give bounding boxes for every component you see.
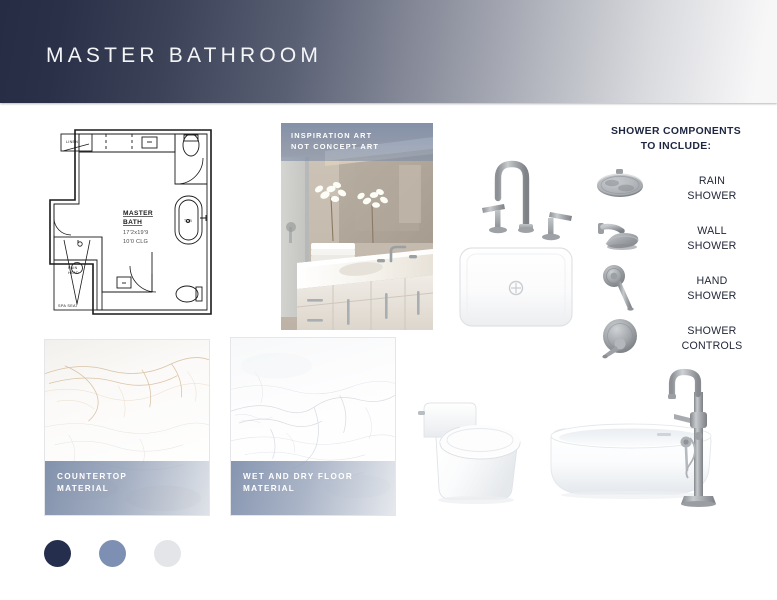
hand-shower-icon: [592, 264, 648, 314]
shower-component-controls-label: SHOWER CONTROLS: [656, 324, 768, 354]
shower-component-wall: WALL SHOWER: [578, 214, 774, 264]
shower-component-hand: HAND SHOWER: [578, 264, 774, 314]
rain-label-line1: RAIN: [656, 174, 768, 189]
page-header: MASTER BATHROOM: [0, 0, 777, 103]
rain-shower-icon: [592, 164, 648, 214]
floorplan-ceiling-height: 10'0 CLG: [123, 239, 148, 245]
tub-filler-image: [660, 366, 722, 508]
floor-caption: WET AND DRY FLOOR MATERIAL: [231, 461, 395, 515]
shower-heading-line2: TO INCLUDE:: [578, 139, 774, 154]
wall-label-line2: SHOWER: [656, 239, 768, 254]
page-title: MASTER BATHROOM: [46, 44, 322, 68]
shower-component-wall-label: WALL SHOWER: [656, 224, 768, 254]
shower-components-heading: SHOWER COMPONENTS TO INCLUDE:: [578, 124, 774, 154]
hand-label-line1: HAND: [656, 274, 768, 289]
shower-components-panel: SHOWER COMPONENTS TO INCLUDE:: [578, 124, 774, 356]
palette-swatch-light-grey: [154, 540, 181, 567]
floorplan-room-name-line2: BATH: [123, 219, 142, 226]
inspiration-caption: INSPIRATION ART NOT CONCEPT ART: [281, 123, 433, 161]
inspiration-caption-line2: NOT CONCEPT ART: [291, 142, 424, 153]
material-swatch-countertop: COUNTERTOP MATERIAL: [44, 339, 210, 516]
hand-label-line2: SHOWER: [656, 289, 768, 304]
floorplan-dimensions: 17'2x19'9: [123, 230, 148, 236]
color-palette: [44, 540, 204, 570]
floorplan-label-rain-head-2: HEAD: [68, 271, 79, 275]
countertop-caption-line2: MATERIAL: [57, 483, 198, 495]
inspiration-photo: INSPIRATION ART NOT CONCEPT ART: [281, 123, 433, 330]
floorplan-label-spa-seat: SPA SEAT: [58, 304, 79, 308]
material-swatch-floor: WET AND DRY FLOOR MATERIAL: [230, 337, 396, 516]
floorplan-label-linen: LINEN: [66, 140, 78, 144]
rain-label-line2: SHOWER: [656, 189, 768, 204]
wall-label-line1: WALL: [656, 224, 768, 239]
faucet-and-sink-group: [452, 142, 580, 332]
shower-component-rain-label: RAIN SHOWER: [656, 174, 768, 204]
controls-label-line1: SHOWER: [656, 324, 768, 339]
shower-heading-line1: SHOWER COMPONENTS: [578, 124, 774, 139]
floor-plan-drawing: LINEN TUB RAIN HEAD SPA SEAT MASTER BATH…: [44, 122, 239, 322]
floorplan-label-rain-head-1: RAIN: [68, 266, 78, 270]
palette-swatch-slate-blue: [99, 540, 126, 567]
floorplan-label-tub: TUB: [184, 219, 192, 223]
inspiration-caption-line1: INSPIRATION ART: [291, 131, 424, 142]
floorplan-room-name-line1: MASTER: [123, 210, 153, 217]
shower-controls-icon: [592, 314, 648, 364]
faucet-and-sink-image: [452, 142, 580, 332]
toilet-image: [414, 385, 534, 513]
countertop-caption: COUNTERTOP MATERIAL: [45, 461, 209, 515]
floor-caption-line2: MATERIAL: [243, 483, 384, 495]
floor-plan: LINEN TUB RAIN HEAD SPA SEAT MASTER BATH…: [44, 122, 239, 322]
palette-swatch-navy: [44, 540, 71, 567]
floor-caption-line1: WET AND DRY FLOOR: [243, 471, 384, 483]
shower-component-controls: SHOWER CONTROLS: [578, 314, 774, 364]
wall-shower-icon: [592, 214, 648, 264]
shower-component-rain: RAIN SHOWER: [578, 164, 774, 214]
controls-label-line2: CONTROLS: [656, 339, 768, 354]
shower-components-list: RAIN SHOWER: [578, 164, 774, 364]
shower-component-hand-label: HAND SHOWER: [656, 274, 768, 304]
countertop-caption-line1: COUNTERTOP: [57, 471, 198, 483]
